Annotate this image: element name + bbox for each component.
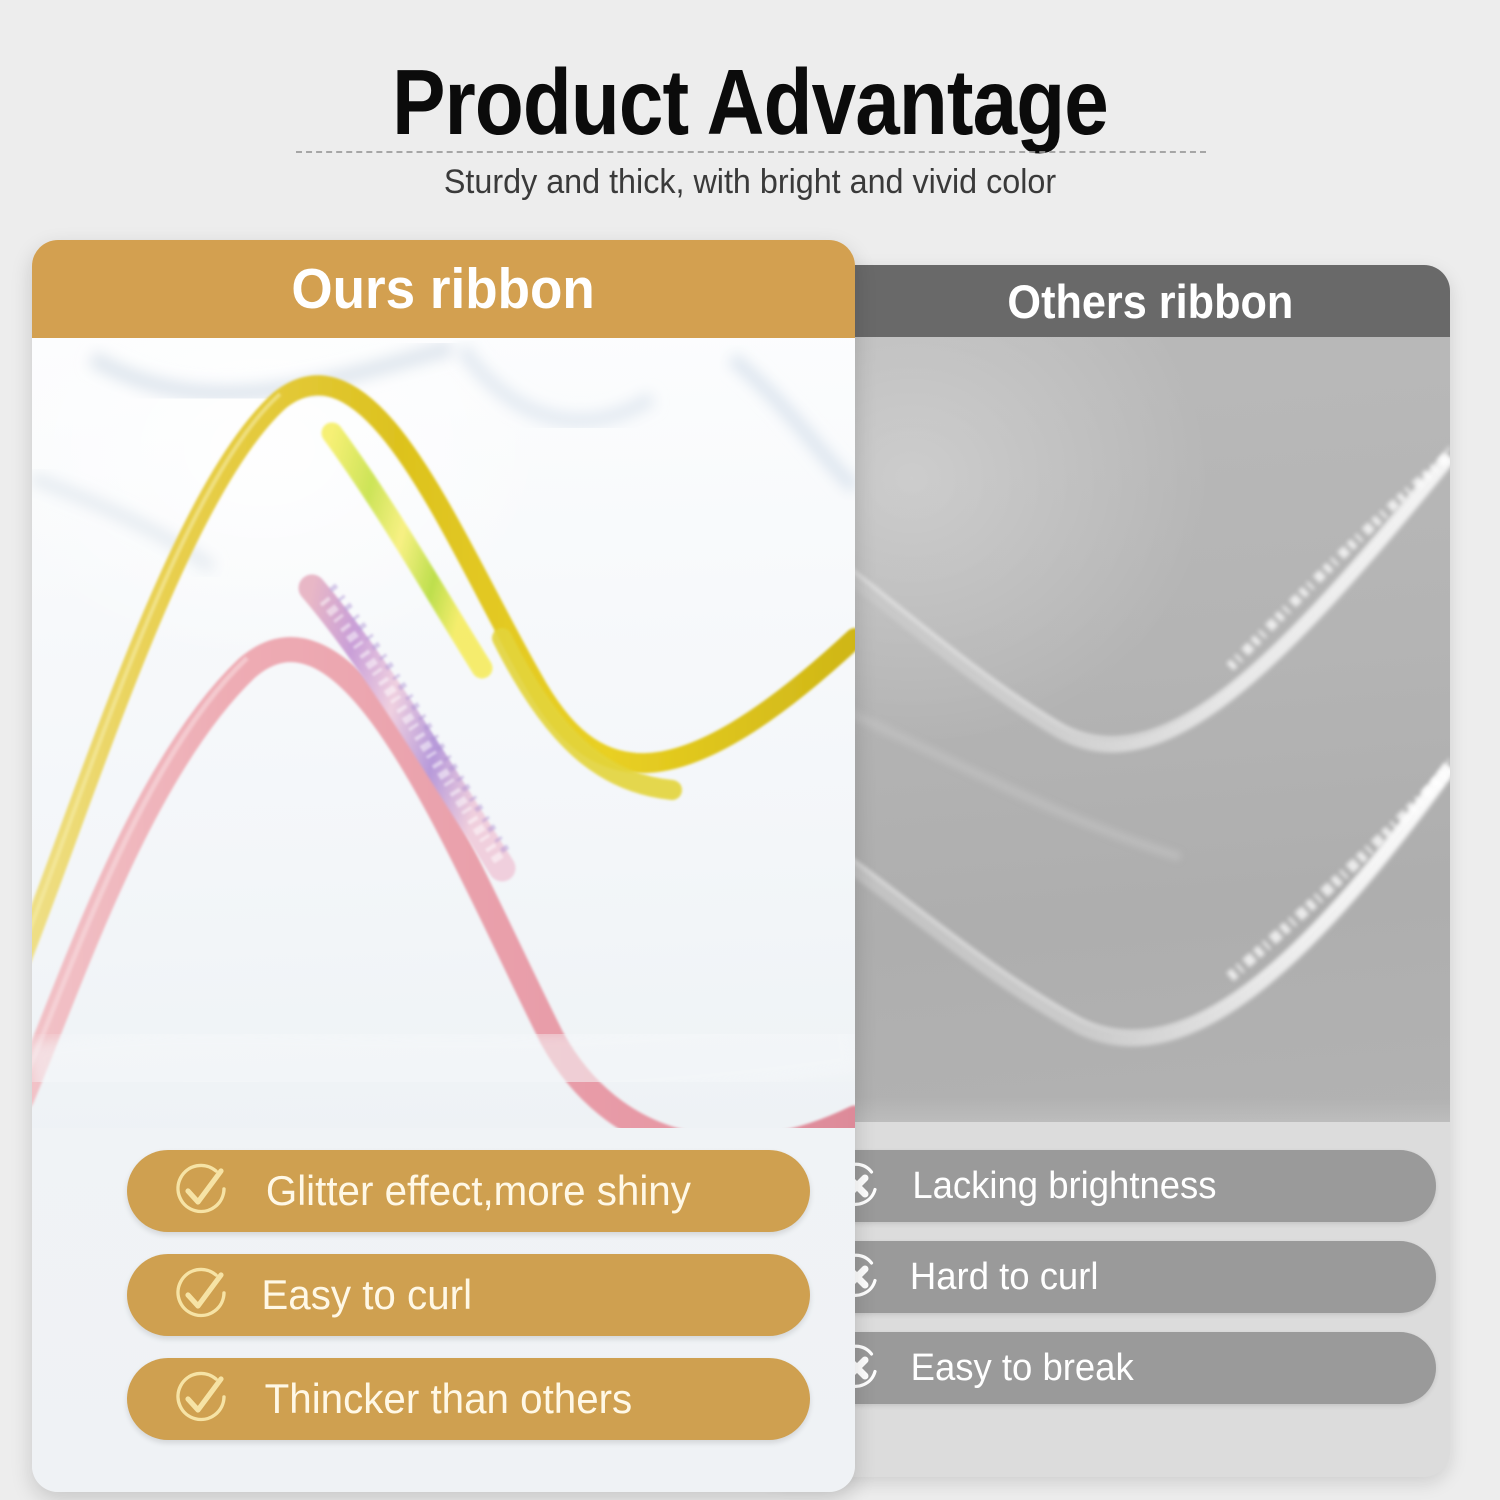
- ours-panel: Ours ribbon: [32, 240, 855, 1492]
- badge-label: Thincker than others: [265, 1375, 633, 1423]
- ours-badge-easy-to-curl[interactable]: Easy to curl: [127, 1254, 810, 1336]
- others-product-photo: [760, 337, 1450, 1122]
- ours-badge-thicker-than-others[interactable]: Thincker than others: [127, 1358, 810, 1440]
- badge-label: Lacking brightness: [912, 1165, 1216, 1208]
- check-circle-icon: [169, 1367, 233, 1431]
- badge-label: Easy to break: [911, 1347, 1134, 1390]
- others-badge-hard-to-curl[interactable]: Hard to curl: [802, 1241, 1436, 1313]
- title-divider: [296, 151, 1206, 153]
- page-title: Product Advantage: [105, 54, 1395, 151]
- badge-label: Hard to curl: [910, 1256, 1099, 1299]
- comparison-area: Others ribbon: [0, 215, 1500, 1500]
- check-circle-icon: [169, 1159, 233, 1223]
- ours-product-photo: [32, 338, 855, 1128]
- page-subtitle: Sturdy and thick, with bright and vivid …: [38, 160, 1463, 204]
- badge-label: Glitter effect,more shiny: [266, 1167, 691, 1215]
- ours-header-label: Ours ribbon: [292, 256, 595, 322]
- others-photo-fade: [760, 1097, 1450, 1122]
- others-badge-list: Lacking brightness Hard to curl: [760, 1150, 1450, 1423]
- ours-badge-list: Glitter effect,more shiny Easy to curl: [32, 1150, 855, 1462]
- check-circle-icon: [169, 1263, 233, 1327]
- page-header: Product Advantage Sturdy and thick, with…: [0, 0, 1500, 215]
- others-panel: Others ribbon: [760, 265, 1450, 1477]
- others-badge-easy-to-break[interactable]: Easy to break: [802, 1332, 1436, 1404]
- others-header-label: Others ribbon: [1007, 274, 1293, 329]
- badge-label: Easy to curl: [261, 1271, 472, 1319]
- ours-badge-glitter-effect[interactable]: Glitter effect,more shiny: [127, 1150, 810, 1232]
- others-badge-lacking-brightness[interactable]: Lacking brightness: [802, 1150, 1436, 1222]
- others-panel-header: Others ribbon: [760, 265, 1450, 337]
- ours-panel-header: Ours ribbon: [32, 240, 855, 338]
